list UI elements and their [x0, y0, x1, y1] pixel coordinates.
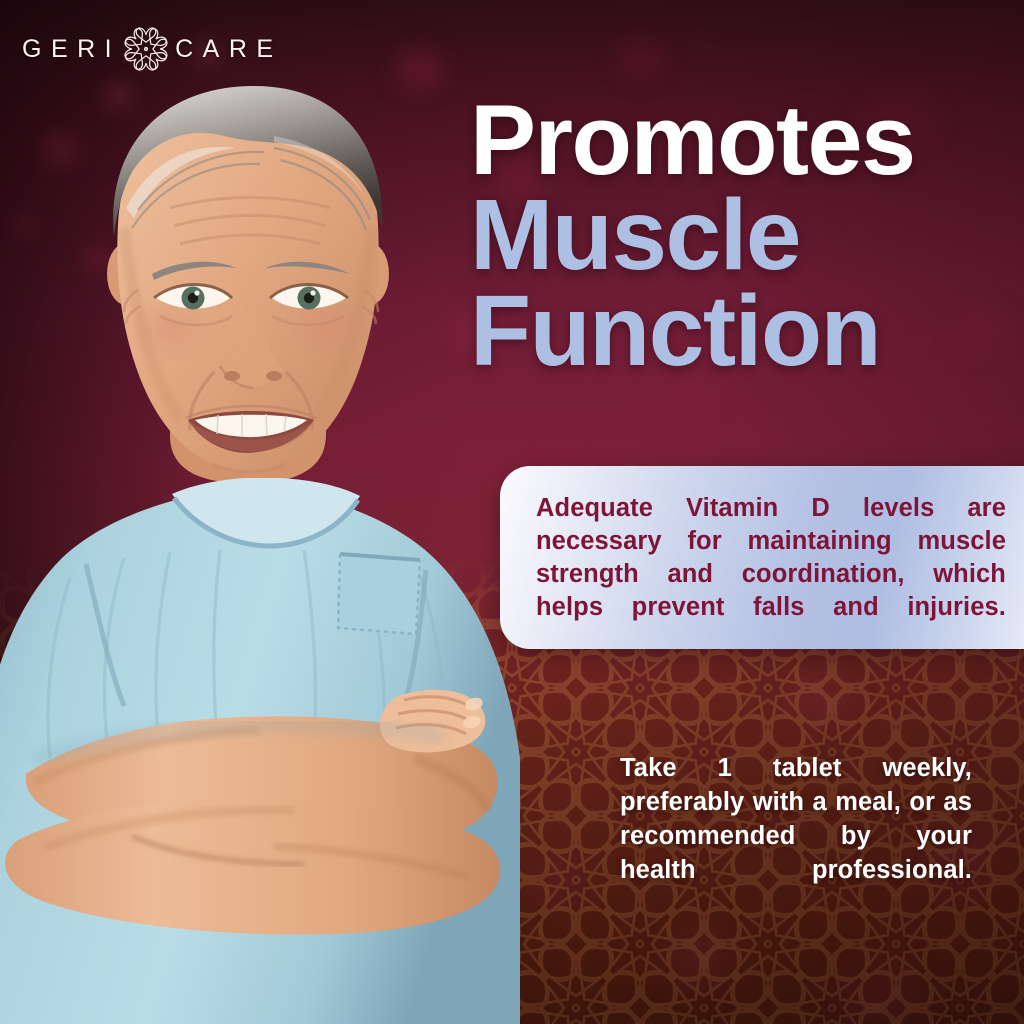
headline: Promotes Muscle Function: [470, 92, 1016, 379]
benefit-callout-text: Adequate Vitamin D levels are necessary …: [536, 492, 1006, 658]
benefit-callout-panel: Adequate Vitamin D levels are necessary …: [500, 466, 1024, 649]
flower-emblem-icon: [123, 26, 169, 72]
brand-name-left: GERI: [22, 37, 121, 62]
promo-card: GERI CARE: [0, 0, 1024, 1024]
dosage-instruction-text: Take 1 tablet weekly, preferably with a …: [620, 752, 972, 922]
dosage-instruction: Take 1 tablet weekly, preferably with a …: [620, 752, 972, 922]
brand-logo: GERI CARE: [22, 26, 283, 72]
brand-name-right: CARE: [175, 37, 282, 62]
headline-line-1: Promotes: [470, 92, 1016, 187]
headline-line-3: Function: [470, 283, 1016, 379]
headline-line-2: Muscle: [470, 187, 1016, 283]
